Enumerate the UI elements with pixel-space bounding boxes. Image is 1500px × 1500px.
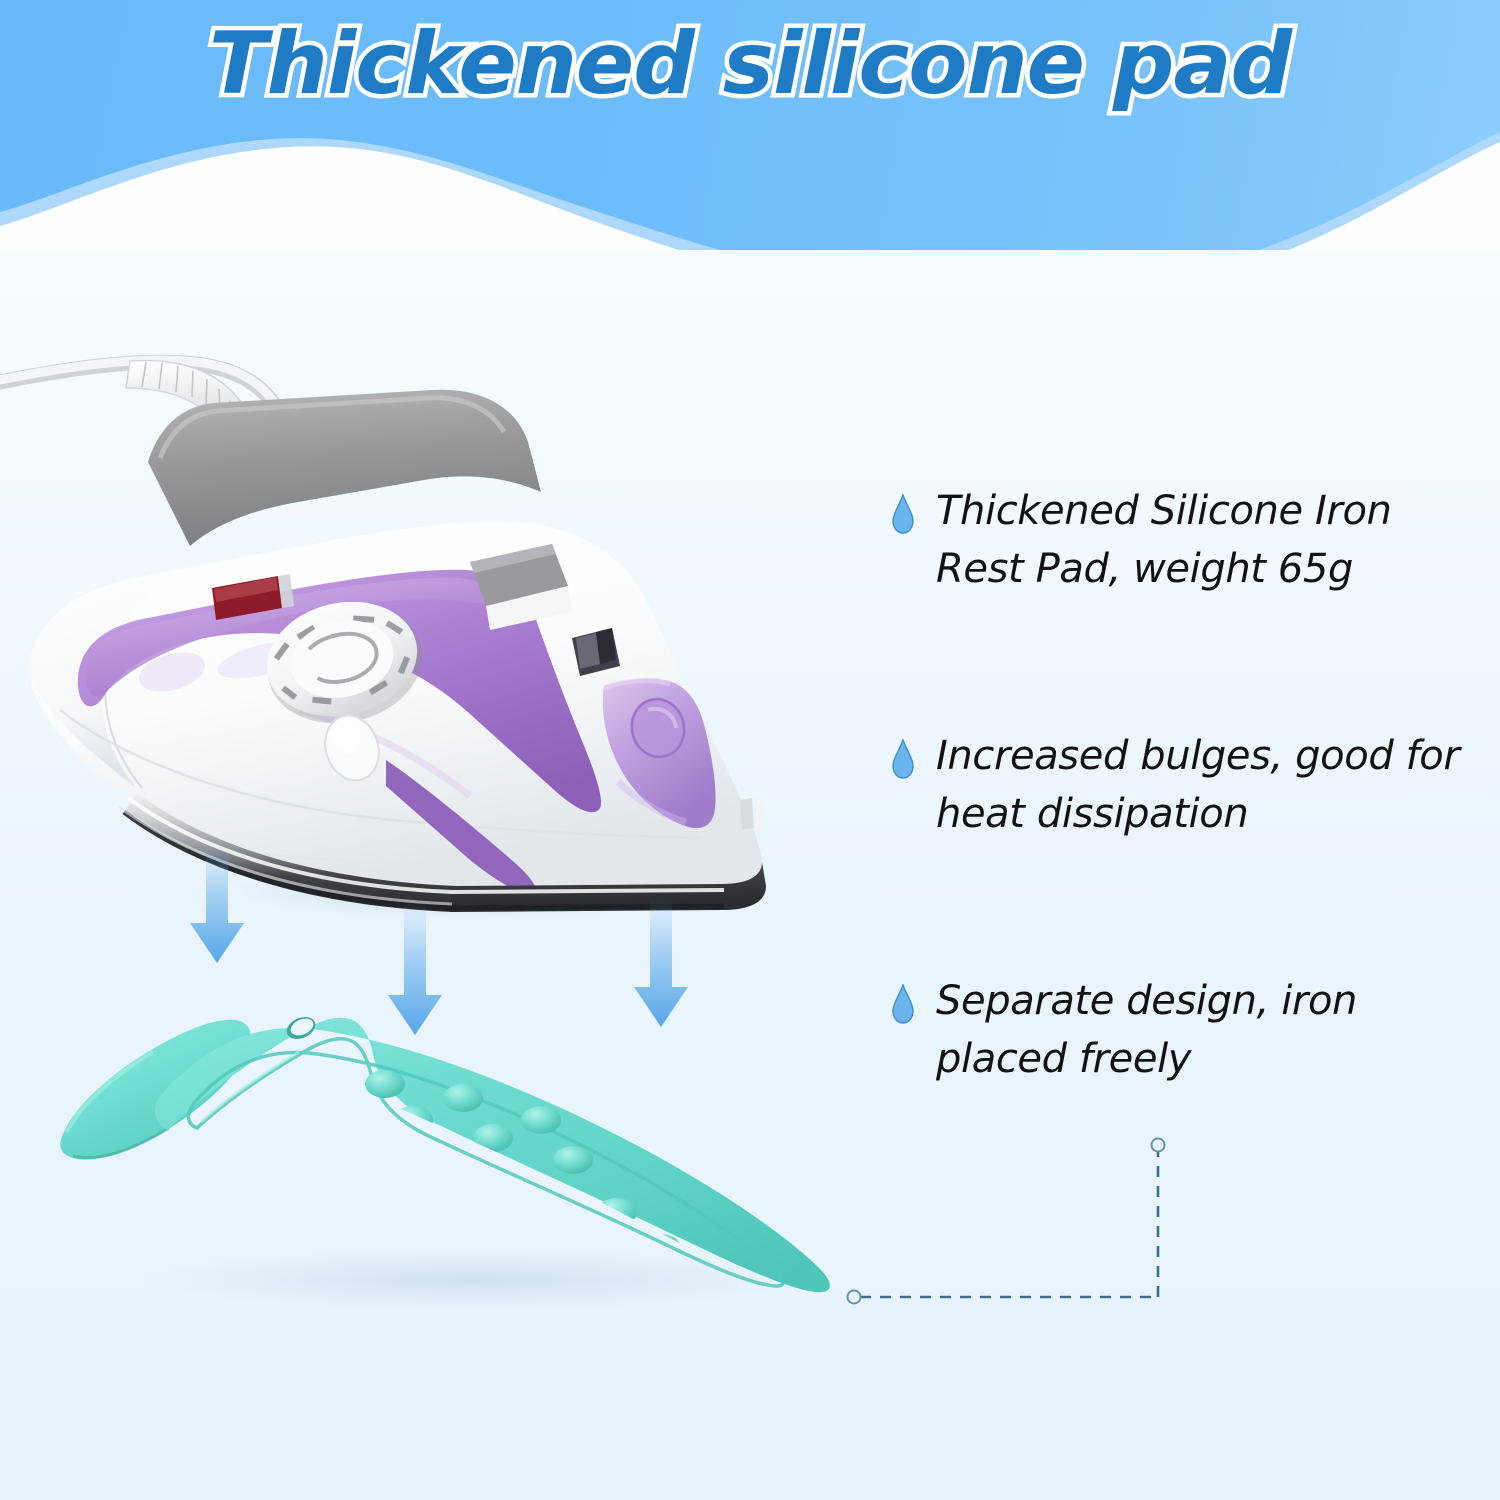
- page-title: Thickened silicone pad: [209, 14, 1291, 114]
- feature-list: Thickened Silicone Iron Rest Pad, weight…: [892, 482, 1482, 1088]
- feature-item: Thickened Silicone Iron Rest Pad, weight…: [892, 482, 1482, 599]
- dimension-callout: [820, 1130, 1200, 1320]
- pad-bump: [553, 1146, 593, 1174]
- callout-endpoint-circle-left: [848, 1291, 861, 1304]
- infographic-canvas: Thickened silicone pad: [0, 0, 1500, 1500]
- header-banner: Thickened silicone pad: [0, 0, 1500, 250]
- feature-item: Separate design, iron placed freely: [892, 972, 1482, 1089]
- pad-hanging-hole: [283, 1013, 319, 1043]
- wave-white-layer: [0, 142, 1500, 250]
- pad-bump: [365, 1070, 405, 1098]
- feature-label: Increased bulges, good for heat dissipat…: [936, 727, 1482, 844]
- pad-bump: [443, 1084, 483, 1112]
- pad-bump: [287, 1064, 327, 1092]
- feature-label: Thickened Silicone Iron Rest Pad, weight…: [936, 482, 1482, 599]
- pad-bump: [521, 1106, 561, 1134]
- silicone-pad-illustration: [55, 980, 885, 1310]
- steam-iron-illustration: [0, 240, 860, 920]
- side-knob[interactable]: [740, 796, 766, 830]
- water-drop-icon: [892, 494, 914, 534]
- pad-bump: [235, 1094, 275, 1122]
- feature-item: Increased bulges, good for heat dissipat…: [892, 727, 1482, 844]
- feature-label: Separate design, iron placed freely: [936, 972, 1482, 1089]
- water-drop-icon: [892, 984, 914, 1024]
- water-drop-icon: [892, 739, 914, 779]
- page-title-wrap: Thickened silicone pad: [0, 14, 1500, 114]
- arrow-1: [190, 845, 244, 963]
- callout-endpoint-circle-top: [1152, 1139, 1165, 1152]
